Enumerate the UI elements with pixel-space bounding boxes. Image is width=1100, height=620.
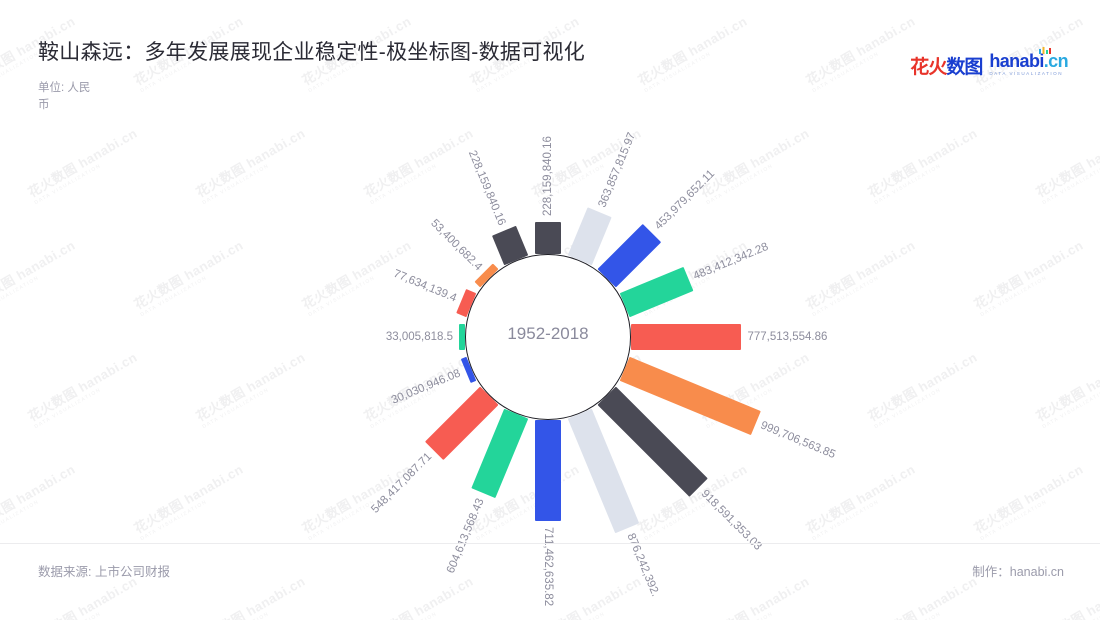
bar-value-label: 363,857,815.97 [596,131,638,209]
bar-value-label: 33,005,818.5 [386,331,453,343]
polar-bar[interactable] [568,208,612,266]
logo-chinese: 花火数图 [910,58,982,78]
polar-bar[interactable] [535,420,561,521]
brand-logo: 花火数图 hanabi.cn DATA VISUALIZATION [910,52,1068,78]
logo-latin-block: hanabi.cn DATA VISUALIZATION [989,52,1068,78]
bar-value-label: 53,400,682.4 [428,217,484,273]
polar-bar[interactable] [620,267,693,317]
sparkle-icon [1038,46,1052,55]
logo-wordmark: hanabi.cn [989,52,1068,70]
data-source-text: 数据来源: 上市公司财报 [38,561,170,580]
polar-bar-chart: 1952-2018 228,159,840.16363,857,815.9745… [0,108,1100,543]
bar-value-label: 30,030,946.08 [390,368,463,407]
watermark-tile: 花火数图 hanabi.cnDATA VISUALIZATION [192,571,311,620]
unit-subtitle: 单位: 人民币 [38,80,98,114]
polar-bar[interactable] [597,224,661,288]
bar-value-label: 228,159,840.16 [542,136,554,216]
watermark-tile: 花火数图 hanabi.cnDATA VISUALIZATION [634,11,753,94]
polar-bar[interactable] [631,324,741,350]
bar-value-label: 604,613,568.43 [445,496,487,574]
chart-page: 花火数图 hanabi.cnDATA VISUALIZATION花火数图 han… [0,0,1100,620]
logo-char-tu: 图 [964,57,982,78]
polar-bar[interactable] [535,222,561,254]
logo-char-huo: 火 [928,57,946,78]
bar-value-label: 228,159,840.16 [465,149,507,227]
bar-value-label: 711,462,635.82 [542,527,554,606]
polar-bar[interactable] [459,324,465,350]
watermark-tile: 花火数图 hanabi.cnDATA VISUALIZATION [696,571,815,620]
logo-tagline: DATA VISUALIZATION [989,72,1068,77]
credit-text: 制作：hanabi.cn [972,561,1064,580]
bar-value-label: 548,417,087.71 [369,451,434,516]
watermark-tile: 花火数图 hanabi.cnDATA VISUALIZATION [864,571,983,620]
logo-char-shu: 数 [946,57,964,78]
logo-char-hua: 花 [910,57,928,78]
watermark-tile: 花火数图 hanabi.cnDATA VISUALIZATION [802,11,921,94]
logo-wordmark-text: hanabi [989,51,1043,71]
footer-divider [0,543,1100,544]
center-range-label: 1952-2018 [465,324,631,344]
watermark-tile: 花火数图 hanabi.cnDATA VISUALIZATION [360,571,479,620]
bar-value-label: 453,979,652.11 [652,168,716,232]
bar-value-label: 999,706,563.85 [759,420,837,462]
bar-value-label: 77,634,139.4 [391,267,458,304]
bar-value-label: 876,242,392. [624,532,661,599]
page-title: 鞍山森远：多年发展展现企业稳定性-极坐标图-数据可视化 [38,36,585,66]
bar-value-label: 483,412,342.28 [691,241,769,283]
bar-value-label: 777,513,554.86 [747,331,827,343]
